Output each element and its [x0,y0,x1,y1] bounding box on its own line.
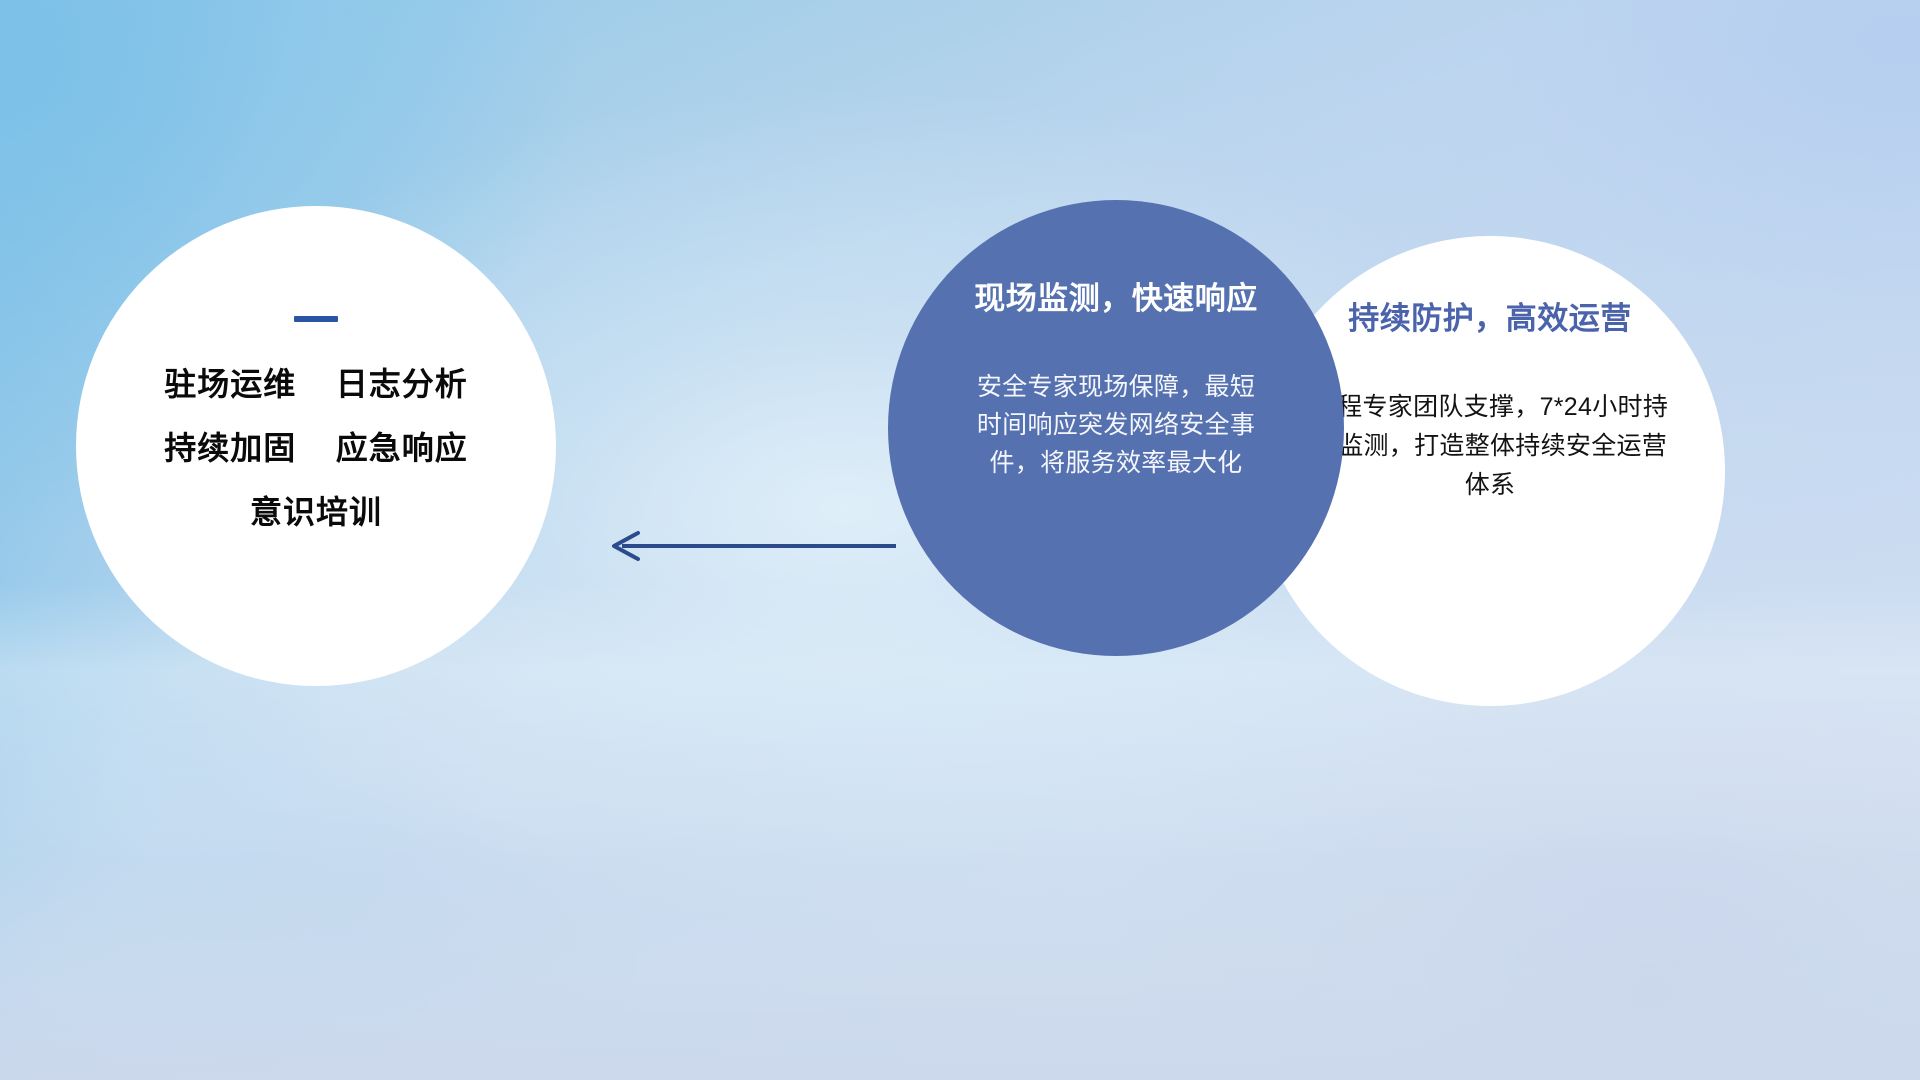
onsite-monitoring-circle[interactable]: 现场监测，快速响应 安全专家现场保障，最短时间响应突发网络安全事件，将服务效率最… [888,200,1344,656]
flow-arrow-left-icon [600,520,900,572]
capability-line-1: 驻场运维 日志分析 [164,368,468,400]
accent-dash-icon [294,316,338,322]
slide-canvas: 驻场运维 日志分析 持续加固 应急响应 意识培训 持续防护，高效运营 远程专家团… [0,0,1920,1080]
capability-line-2: 持续加固 应急响应 [164,432,468,464]
capabilities-circle[interactable]: 驻场运维 日志分析 持续加固 应急响应 意识培训 [76,206,556,686]
onsite-monitoring-title: 现场监测，快速响应 [974,282,1258,316]
continuous-protection-title: 持续防护，高效运营 [1348,302,1632,336]
onsite-monitoring-body: 安全专家现场保障，最短时间响应突发网络安全事件，将服务效率最大化 [973,368,1259,482]
continuous-protection-body: 远程专家团队支撑，7*24小时持续监测，打造整体持续安全运营体系 [1302,388,1678,505]
capability-line-3: 意识培训 [250,496,382,528]
